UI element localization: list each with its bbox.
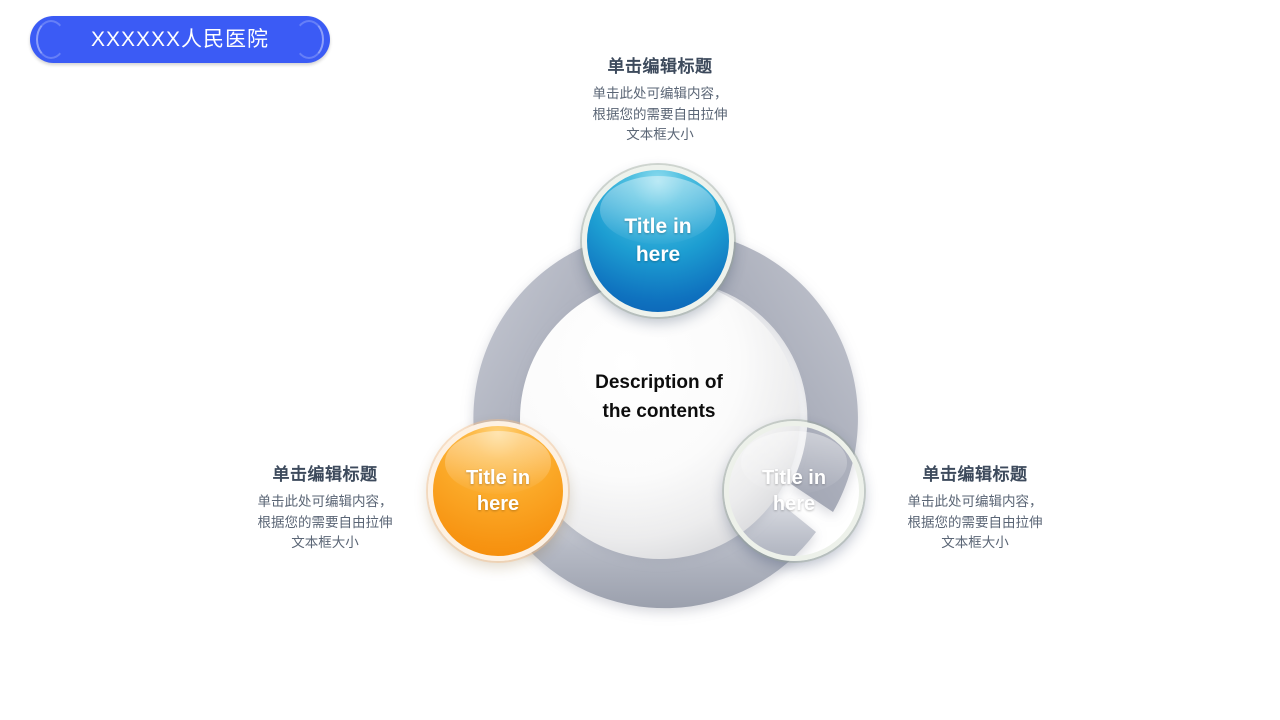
caption-right-title: 单击编辑标题 bbox=[872, 460, 1078, 485]
node-top-label: Title in here bbox=[624, 213, 691, 268]
caption-left-body-line3: 文本框大小 bbox=[222, 533, 428, 554]
gloss-highlight-icon bbox=[445, 431, 552, 493]
node-circle-right[interactable]: Title in here bbox=[724, 421, 864, 561]
caption-left: 单击编辑标题 单击此处可编辑内容， 根据您的需要自由拉伸 文本框大小 bbox=[222, 460, 428, 554]
node-top-label-line1: Title in bbox=[624, 215, 691, 238]
node-left-label: Title in here bbox=[466, 465, 530, 518]
gloss-highlight-icon bbox=[741, 431, 848, 493]
node-right-label-line2: here bbox=[773, 493, 815, 515]
caption-right-body-line3: 文本框大小 bbox=[872, 533, 1078, 554]
node-circle-left[interactable]: Title in here bbox=[428, 421, 568, 561]
caption-top: 单击编辑标题 单击此处可编辑内容， 根据您的需要自由拉伸 文本框大小 bbox=[540, 52, 780, 146]
node-left-label-line2: here bbox=[477, 493, 519, 515]
caption-top-title: 单击编辑标题 bbox=[540, 52, 780, 77]
caption-top-body-line3: 文本框大小 bbox=[540, 125, 780, 146]
center-description-line1: Description of bbox=[552, 368, 766, 397]
node-left-label-line1: Title in bbox=[466, 467, 530, 489]
three-part-cycle-diagram: Description of the contents Title in her… bbox=[0, 0, 1280, 720]
caption-right: 单击编辑标题 单击此处可编辑内容， 根据您的需要自由拉伸 文本框大小 bbox=[872, 460, 1078, 554]
caption-right-body-line2: 根据您的需要自由拉伸 bbox=[872, 513, 1078, 534]
node-circle-top[interactable]: Title in here bbox=[582, 165, 734, 317]
node-top-label-line2: here bbox=[636, 243, 680, 266]
caption-left-body: 单击此处可编辑内容， 根据您的需要自由拉伸 文本框大小 bbox=[222, 492, 428, 554]
caption-right-body-line1: 单击此处可编辑内容， bbox=[872, 492, 1078, 513]
caption-right-body: 单击此处可编辑内容， 根据您的需要自由拉伸 文本框大小 bbox=[872, 492, 1078, 554]
caption-top-body-line1: 单击此处可编辑内容， bbox=[540, 84, 780, 105]
gloss-highlight-icon bbox=[600, 176, 716, 244]
caption-left-body-line2: 根据您的需要自由拉伸 bbox=[222, 513, 428, 534]
node-right-label: Title in here bbox=[762, 465, 826, 518]
center-description-line2: the contents bbox=[552, 397, 766, 426]
caption-top-body: 单击此处可编辑内容， 根据您的需要自由拉伸 文本框大小 bbox=[540, 84, 780, 146]
caption-left-body-line1: 单击此处可编辑内容， bbox=[222, 492, 428, 513]
caption-left-title: 单击编辑标题 bbox=[222, 460, 428, 485]
center-description: Description of the contents bbox=[552, 368, 766, 427]
node-right-label-line1: Title in bbox=[762, 467, 826, 489]
caption-top-body-line2: 根据您的需要自由拉伸 bbox=[540, 105, 780, 126]
